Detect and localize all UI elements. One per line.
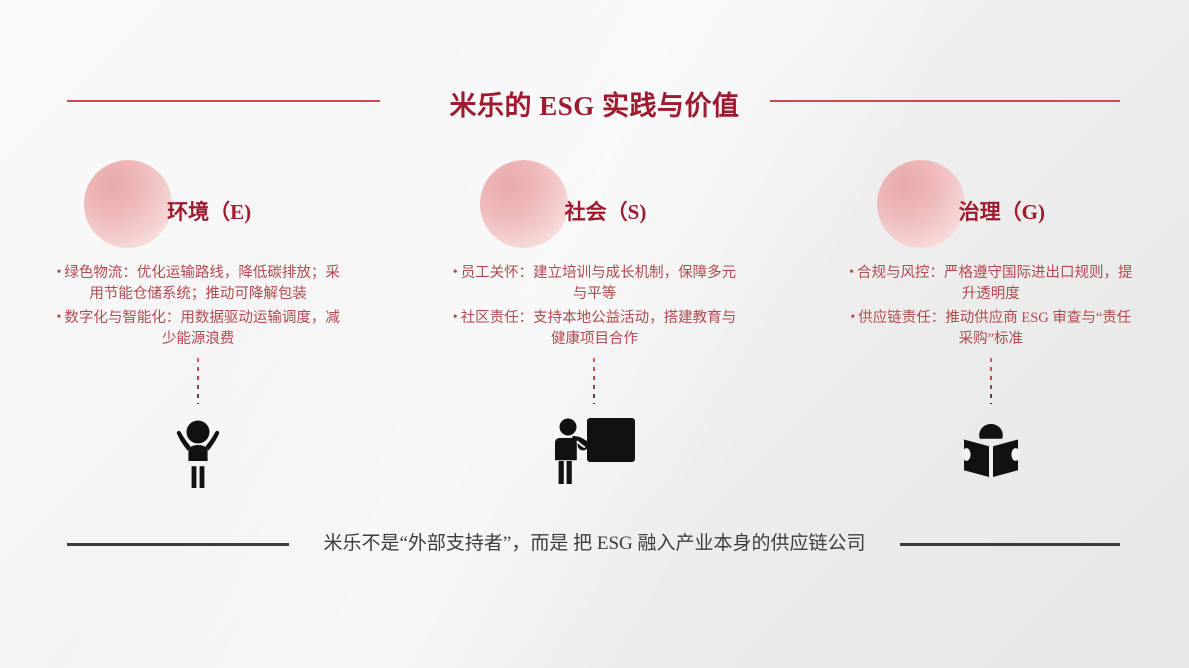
column-governance: 治理（G) •合规与风控：严格遵守国际进出口规则，提升透明度 •供应链责任：推动… (793, 152, 1189, 512)
column-social: 社会（S) •员工关怀：建立培训与成长机制，保障多元与平等 •社区责任：支持本地… (396, 152, 792, 512)
list-item: •绿色物流：优化运输路线，降低碳排放；采用节能仓储系统；推动可降解包装 (48, 262, 348, 305)
bullet-text: 合规与风控：严格遵守国际进出口规则，提升透明度 (857, 265, 1133, 302)
bullet-text: 绿色物流：优化运输路线，降低碳排放；采用节能仓储系统；推动可降解包装 (64, 265, 340, 302)
bullet-dot-icon: • (453, 307, 458, 328)
bullet-list-environment: •绿色物流：优化运输路线，降低碳排放；采用节能仓储系统；推动可降解包装 •数字化… (48, 262, 348, 350)
bullet-dot-icon: • (56, 307, 61, 328)
person-presenting-board-icon (396, 410, 792, 490)
list-item: •员工关怀：建立培训与成长机制，保障多元与平等 (444, 262, 744, 305)
column-title-governance: 治理（G) (793, 196, 1189, 226)
dashed-connector (593, 358, 595, 404)
column-heading-governance: 治理（G) (793, 152, 1189, 262)
column-title-social: 社会（S) (396, 196, 792, 226)
slide-canvas: 米乐的 ESG 实践与价值 环境（E) •绿色物流：优化运输路线，降低碳排放；采… (0, 0, 1189, 668)
columns-container: 环境（E) •绿色物流：优化运输路线，降低碳排放；采用节能仓储系统；推动可降解包… (0, 152, 1189, 512)
bullet-dot-icon: • (56, 262, 61, 283)
list-item: •数字化与智能化：用数据驱动运输调度，减少能源浪费 (48, 307, 348, 350)
list-item: •合规与风控：严格遵守国际进出口规则，提升透明度 (841, 262, 1141, 305)
footer-caption: 米乐不是“外部支持者”，而是 把 ESG 融入产业本身的供应链公司 (0, 528, 1189, 555)
bullet-dot-icon: • (453, 262, 458, 283)
column-heading-social: 社会（S) (396, 152, 792, 262)
bullet-dot-icon: • (849, 262, 854, 283)
person-reading-book-icon (793, 410, 1189, 490)
footer-row: 米乐不是“外部支持者”，而是 把 ESG 融入产业本身的供应链公司 (0, 528, 1189, 566)
bullet-text: 社区责任：支持本地公益活动，搭建教育与健康项目合作 (461, 310, 737, 347)
bullet-list-governance: •合规与风控：严格遵守国际进出口规则，提升透明度 •供应链责任：推动供应商 ES… (841, 262, 1141, 350)
page-title: 米乐的 ESG 实践与价值 (0, 84, 1189, 123)
bullet-text: 员工关怀：建立培训与成长机制，保障多元与平等 (461, 265, 737, 302)
bullet-dot-icon: • (850, 307, 855, 328)
dashed-connector (990, 358, 992, 404)
list-item: •社区责任：支持本地公益活动，搭建教育与健康项目合作 (444, 307, 744, 350)
list-item: •供应链责任：推动供应商 ESG 审查与“责任采购”标准 (841, 307, 1141, 350)
title-row: 米乐的 ESG 实践与价值 (0, 84, 1189, 124)
column-title-environment: 环境（E) (0, 196, 396, 226)
bullet-list-social: •员工关怀：建立培训与成长机制，保障多元与平等 •社区责任：支持本地公益活动，搭… (444, 262, 744, 350)
person-arms-raised-icon (0, 410, 396, 490)
dashed-connector (197, 358, 199, 404)
column-heading-environment: 环境（E) (0, 152, 396, 262)
column-environment: 环境（E) •绿色物流：优化运输路线，降低碳排放；采用节能仓储系统；推动可降解包… (0, 152, 396, 512)
bullet-text: 供应链责任：推动供应商 ESG 审查与“责任采购”标准 (858, 310, 1131, 347)
bullet-text: 数字化与智能化：用数据驱动运输调度，减少能源浪费 (64, 310, 340, 347)
